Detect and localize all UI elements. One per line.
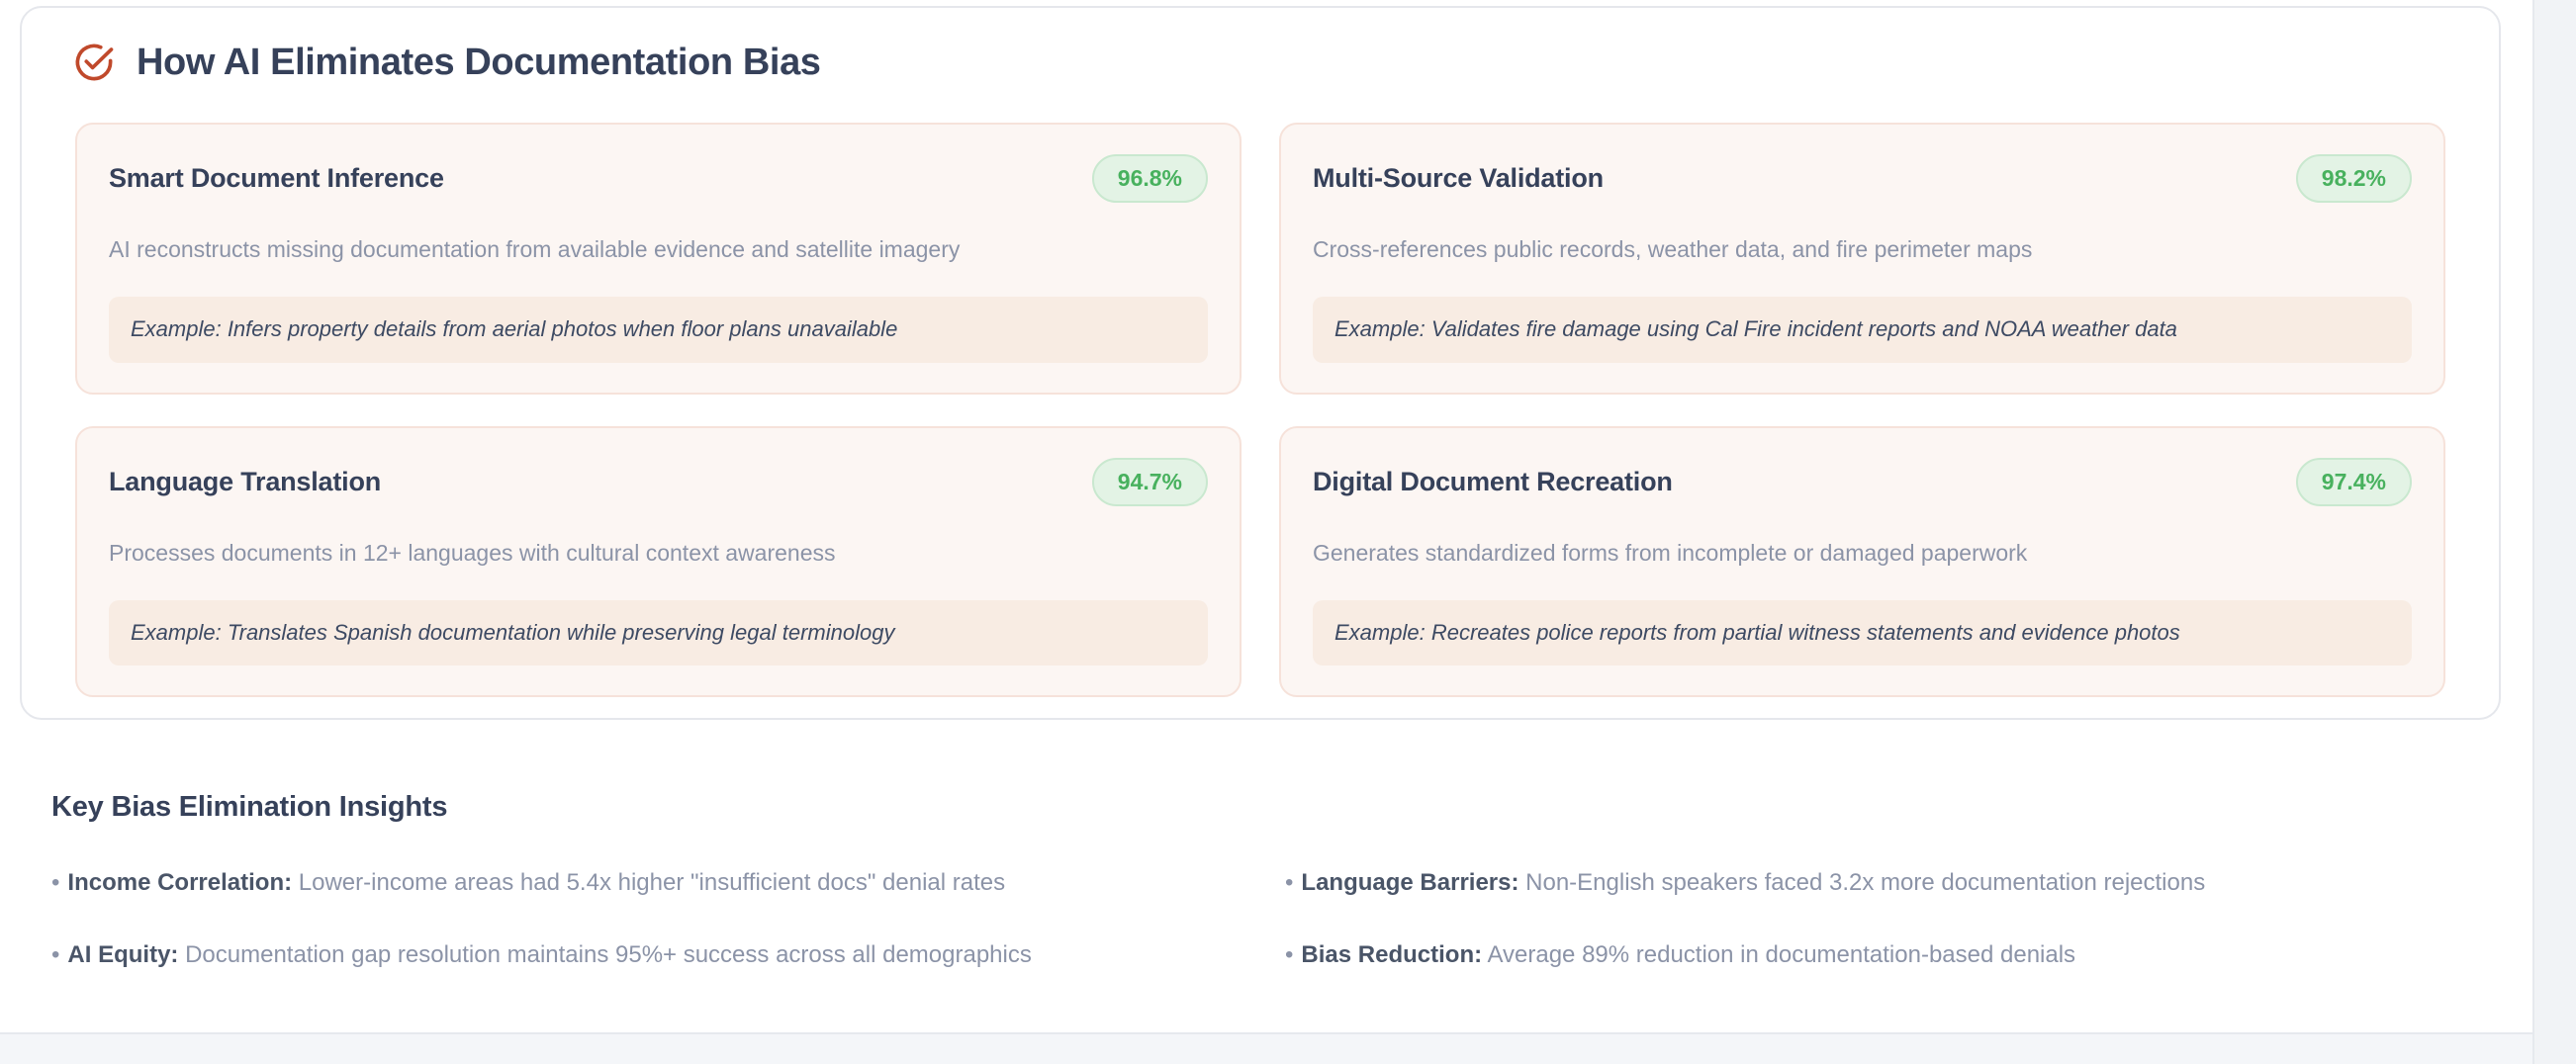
- capability-card[interactable]: Smart Document Inference 96.8% AI recons…: [75, 123, 1242, 395]
- accuracy-badge: 94.7%: [1092, 458, 1208, 506]
- card-description: Processes documents in 12+ languages wit…: [109, 538, 1208, 569]
- bottom-band: [0, 1034, 2532, 1064]
- card-title: Multi-Source Validation: [1313, 163, 1604, 194]
- insights-grid: •Income Correlation: Lower-income areas …: [20, 824, 2501, 970]
- card-description: Cross-references public records, weather…: [1313, 234, 2412, 265]
- insight-item: •Language Barriers: Non-English speakers…: [1285, 867, 2469, 898]
- card-header: Language Translation 94.7%: [109, 458, 1208, 506]
- insights-title: Key Bias Elimination Insights: [20, 791, 2501, 824]
- panel-header: How AI Eliminates Documentation Bias: [22, 8, 2499, 83]
- insight-label: Language Barriers:: [1301, 869, 1518, 896]
- ai-bias-panel: How AI Eliminates Documentation Bias Sma…: [20, 6, 2501, 720]
- card-example: Example: Infers property details from ae…: [109, 297, 1208, 363]
- insight-text: Non-English speakers faced 3.2x more doc…: [1518, 869, 2205, 896]
- card-example: Example: Validates fire damage using Cal…: [1313, 297, 2412, 363]
- insight-text: Average 89% reduction in documentation-b…: [1482, 941, 2075, 968]
- page-root: How AI Eliminates Documentation Bias Sma…: [0, 0, 2576, 1064]
- insight-label: Income Correlation:: [67, 869, 292, 896]
- bullet-glyph: •: [51, 869, 59, 896]
- bullet-glyph: •: [51, 941, 59, 968]
- card-header: Smart Document Inference 96.8%: [109, 154, 1208, 203]
- insight-item: •Bias Reduction: Average 89% reduction i…: [1285, 939, 2469, 970]
- card-description: Generates standardized forms from incomp…: [1313, 538, 2412, 569]
- accuracy-badge: 98.2%: [2296, 154, 2412, 203]
- bullet-glyph: •: [1285, 869, 1293, 896]
- card-example: Example: Recreates police reports from p…: [1313, 600, 2412, 666]
- card-header: Multi-Source Validation 98.2%: [1313, 154, 2412, 203]
- accuracy-badge: 97.4%: [2296, 458, 2412, 506]
- insights-section: Key Bias Elimination Insights •Income Co…: [20, 791, 2501, 970]
- insight-text: Documentation gap resolution maintains 9…: [178, 941, 1031, 968]
- circle-check-icon: [73, 42, 115, 83]
- page-title: How AI Eliminates Documentation Bias: [137, 44, 821, 81]
- insight-label: AI Equity:: [67, 941, 178, 968]
- card-title: Smart Document Inference: [109, 163, 444, 194]
- insight-item: •Income Correlation: Lower-income areas …: [51, 867, 1236, 898]
- insight-item: •AI Equity: Documentation gap resolution…: [51, 939, 1236, 970]
- card-title: Digital Document Recreation: [1313, 467, 1673, 497]
- insight-label: Bias Reduction:: [1301, 941, 1482, 968]
- card-example: Example: Translates Spanish documentatio…: [109, 600, 1208, 666]
- card-header: Digital Document Recreation 97.4%: [1313, 458, 2412, 506]
- capability-card[interactable]: Digital Document Recreation 97.4% Genera…: [1279, 426, 2445, 698]
- capability-card[interactable]: Multi-Source Validation 98.2% Cross-refe…: [1279, 123, 2445, 395]
- card-title: Language Translation: [109, 467, 381, 497]
- accuracy-badge: 96.8%: [1092, 154, 1208, 203]
- capability-cards-grid: Smart Document Inference 96.8% AI recons…: [22, 83, 2499, 697]
- capability-card[interactable]: Language Translation 94.7% Processes doc…: [75, 426, 1242, 698]
- insight-text: Lower-income areas had 5.4x higher "insu…: [292, 869, 1005, 896]
- bullet-glyph: •: [1285, 941, 1293, 968]
- card-description: AI reconstructs missing documentation fr…: [109, 234, 1208, 265]
- page-scroll-gutter[interactable]: [2532, 0, 2576, 1064]
